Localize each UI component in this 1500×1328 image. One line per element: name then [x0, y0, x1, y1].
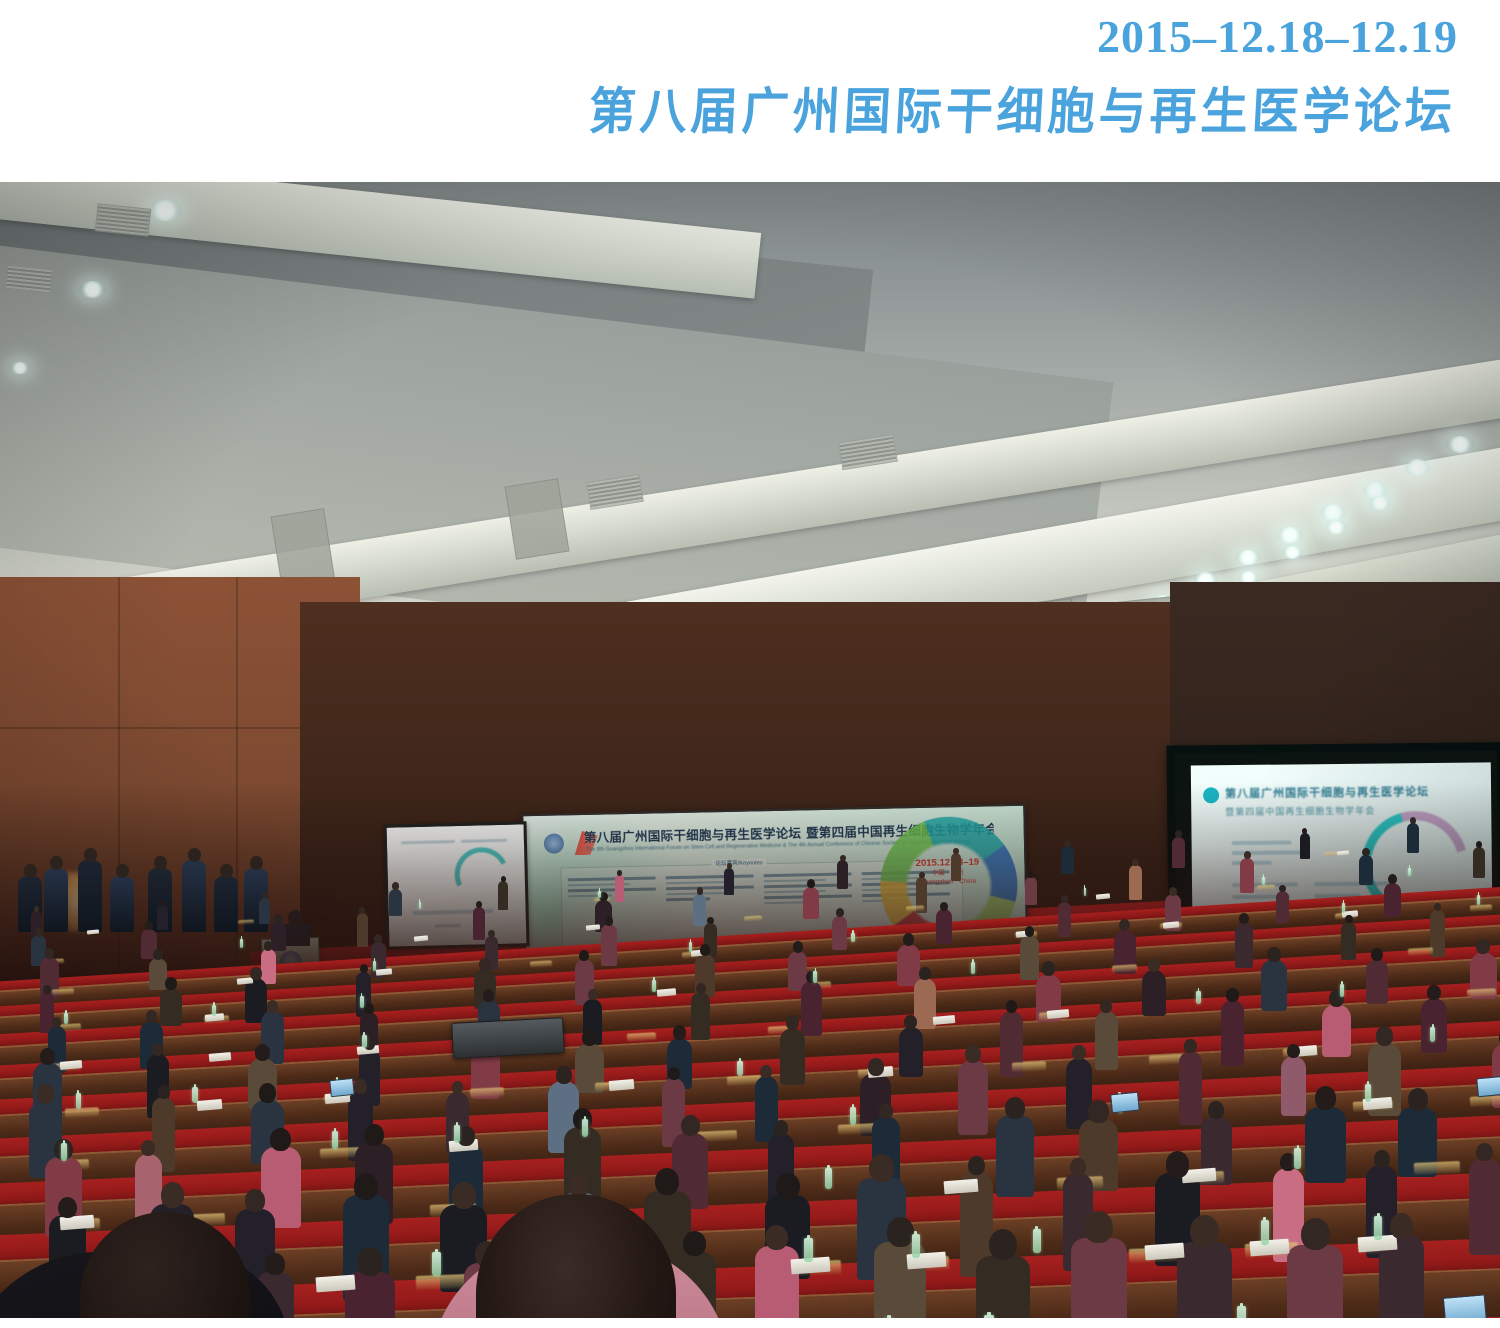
audience-member-head — [700, 944, 710, 956]
audience-member — [1025, 877, 1038, 905]
water-bottle — [212, 1005, 216, 1017]
audience-member — [1305, 1107, 1346, 1183]
audience-member-head — [579, 950, 589, 961]
desk-light-patch — [320, 1147, 360, 1159]
audience-member — [1384, 883, 1401, 917]
audience-member-head — [940, 902, 948, 911]
ceiling-downlight — [79, 281, 106, 298]
audience-member-head — [1287, 1044, 1300, 1059]
audience-member — [1071, 1238, 1127, 1318]
audience-member-head — [707, 917, 714, 925]
audience-member-head — [1064, 840, 1071, 848]
paper-handout — [86, 929, 98, 935]
audience-member-head — [655, 1168, 679, 1195]
water-bottle — [1294, 1148, 1301, 1169]
audience-member — [1359, 855, 1373, 884]
audience-member — [1061, 846, 1074, 874]
audience-member-head — [488, 930, 494, 937]
audience-member-head — [479, 958, 490, 971]
page-root: 2015–12.18–12.19 第八届广州国际干细胞与再生医学论坛 — [0, 0, 1500, 1328]
air-vent-icon — [95, 203, 152, 236]
audience-member-head — [903, 933, 915, 946]
audience-member-head — [1025, 926, 1035, 937]
desk-light-patch — [1012, 1061, 1046, 1072]
audience-member — [615, 875, 624, 902]
audience-member-head — [274, 914, 282, 923]
paper-handout — [1096, 894, 1110, 900]
water-bottle — [582, 1119, 588, 1137]
water-bottle — [1430, 1027, 1435, 1043]
audience-member-head — [476, 901, 482, 908]
water-bottle — [360, 996, 364, 1008]
audience-member — [1066, 1058, 1092, 1130]
water-bottle — [825, 1168, 832, 1189]
water-bottle — [373, 961, 376, 971]
water-bottle — [1033, 1229, 1041, 1253]
desk-light-patch — [1470, 904, 1492, 911]
water-bottle — [984, 1315, 993, 1318]
audience-member-head — [887, 1217, 914, 1247]
audience-member-head — [357, 1247, 383, 1276]
ceiling-downlight — [1235, 550, 1261, 566]
audience-member — [1020, 935, 1038, 980]
audience-member-head — [1302, 828, 1307, 834]
audience-member-head — [452, 1182, 476, 1209]
audience-member-head — [1088, 1100, 1108, 1123]
audience-member-head — [1006, 1000, 1018, 1013]
water-bottle — [76, 1093, 81, 1109]
audience-member-head — [774, 1120, 788, 1136]
audience-member-head — [1376, 1026, 1393, 1045]
audience-member — [601, 924, 618, 965]
audience-member — [259, 898, 270, 925]
ceiling-speaker — [505, 478, 570, 560]
desk-light-patch — [65, 1107, 99, 1118]
audience-member-head — [146, 1010, 158, 1023]
audience-member-head — [1362, 848, 1370, 856]
paper-handout — [944, 1178, 979, 1194]
page-header: 2015–12.18–12.19 第八届广州国际干细胞与再生医学论坛 — [0, 0, 1500, 182]
audience-member — [1142, 970, 1166, 1016]
water-bottle — [1374, 1216, 1382, 1240]
conference-hall-photo: 第八届广州国际干细胞与再生医学论坛 暨第四届中国再生细胞生物学年会 The 8t… — [0, 182, 1500, 1318]
audience-member-head — [868, 1058, 884, 1076]
audience-member — [1261, 959, 1286, 1011]
audience-member — [157, 905, 168, 930]
paper-handout — [414, 935, 428, 941]
water-bottle — [432, 1252, 440, 1276]
audience-member-head — [919, 872, 925, 878]
water-bottle — [240, 939, 243, 947]
audience-member-head — [35, 928, 43, 937]
water-bottle — [1084, 888, 1087, 896]
audience-member-head — [1374, 1150, 1390, 1168]
standing-attendee-head — [24, 864, 37, 878]
standing-attendee-head — [188, 848, 201, 862]
audience-member-head — [840, 855, 846, 861]
audience-member — [1177, 1242, 1232, 1318]
water-bottle — [61, 1143, 67, 1161]
audience-member-head — [683, 1231, 705, 1256]
header-title: 第八届广州国际干细胞与再生医学论坛 — [587, 70, 1458, 143]
audience-member-head — [245, 1189, 266, 1212]
audience-member-head — [1371, 948, 1383, 961]
standing-attendee — [44, 868, 68, 932]
audience-member-head — [727, 863, 732, 869]
water-bottle — [332, 1131, 338, 1149]
audience-member-head — [161, 1182, 184, 1208]
audience-member-head — [1244, 851, 1251, 859]
audience-member-head — [1028, 871, 1035, 878]
audience-member — [1240, 858, 1254, 893]
audience-member — [1473, 847, 1485, 878]
audience-member-head — [1279, 885, 1286, 893]
audience-member — [1129, 865, 1141, 900]
water-bottle — [64, 1013, 68, 1025]
desk-light-patch — [1414, 1161, 1460, 1175]
paper-handout — [1249, 1239, 1289, 1257]
audience-member-head — [58, 1197, 77, 1218]
water-bottle — [1340, 984, 1344, 997]
audience-member-head — [153, 949, 162, 959]
audience-member-head — [52, 1017, 61, 1028]
desk-light-patch — [743, 916, 762, 922]
audience-member-head — [1388, 874, 1397, 884]
header-date: 2015–12.18–12.19 — [1097, 10, 1458, 63]
audience-member-head — [1410, 817, 1416, 824]
audience-member-head — [605, 916, 614, 926]
audience-member-head — [1239, 913, 1249, 924]
audience-member-head — [989, 1229, 1017, 1260]
audience-member-head — [1390, 1213, 1413, 1239]
standing-attendee-head — [84, 848, 97, 862]
audience-member — [357, 913, 368, 948]
audience-member — [1421, 998, 1447, 1053]
audience-member — [951, 853, 961, 881]
photo-bottom-strip — [0, 1318, 1500, 1328]
audience-member-head — [360, 964, 368, 973]
audience-member-head — [582, 1029, 597, 1046]
audience-member-head — [359, 907, 365, 914]
audience-member-head — [1084, 1211, 1113, 1244]
audience-member — [1366, 959, 1388, 1004]
audience-member-head — [696, 983, 706, 994]
audience-member-head — [364, 1124, 383, 1146]
audience-member-head — [786, 1015, 799, 1030]
desk-light-patch — [470, 1087, 504, 1098]
audience-member — [958, 1060, 988, 1135]
audience-member — [801, 981, 822, 1036]
audience-member-head — [1476, 1143, 1493, 1162]
standing-attendee-head — [50, 856, 63, 870]
standing-attendee — [182, 860, 206, 932]
audience-member — [780, 1028, 805, 1086]
audio-mixer-console — [451, 1017, 565, 1059]
audience-member — [1341, 922, 1356, 960]
audience-member-head — [1226, 988, 1238, 1002]
water-bottle — [1237, 1306, 1246, 1318]
audience-member-head — [919, 967, 931, 980]
audience-member-head — [1208, 1101, 1224, 1119]
audience-member-head — [968, 1156, 985, 1175]
audience-member-head — [1315, 1086, 1336, 1110]
ceiling-downlight — [1282, 546, 1303, 559]
audience-member — [1095, 1011, 1118, 1070]
audience-member-head — [1345, 915, 1353, 924]
audience-member — [837, 860, 848, 889]
standing-attendee — [214, 876, 238, 932]
ceiling-downlight — [148, 200, 182, 221]
audience-member-head — [1184, 1039, 1196, 1052]
water-bottle — [1408, 868, 1411, 876]
audience-member — [897, 944, 920, 985]
audience-member — [1172, 837, 1185, 869]
audience-member — [1469, 1158, 1500, 1255]
audience-member-head — [152, 1043, 163, 1055]
audience-member-head — [364, 1003, 373, 1013]
water-bottle — [1196, 991, 1200, 1004]
audience-member-head — [1072, 1045, 1086, 1060]
audience-member-head — [265, 1253, 284, 1275]
standing-attendee-head — [154, 856, 167, 870]
water-bottle — [598, 891, 600, 898]
audience-member-head — [1175, 830, 1182, 838]
audience-member-head — [1301, 1218, 1330, 1250]
water-bottle — [689, 942, 692, 952]
audience-member — [755, 1246, 799, 1318]
water-bottle — [813, 971, 817, 983]
audience-member-head — [259, 1083, 276, 1103]
audience-member — [473, 907, 484, 940]
ceiling-downlight — [1320, 504, 1346, 520]
paper-handout — [196, 1099, 222, 1111]
audience-member-head — [760, 1065, 772, 1078]
audience-member-head — [43, 985, 51, 993]
ceiling-downlight — [1369, 496, 1391, 510]
water-bottle — [737, 1061, 742, 1077]
audience-member-head — [1132, 859, 1138, 866]
laptop — [329, 1078, 355, 1097]
water-bottle — [1342, 903, 1345, 913]
audience-member-head — [1148, 958, 1160, 972]
audience-member — [160, 988, 182, 1025]
audience-member-head — [40, 1048, 55, 1065]
audience-member-head — [1476, 939, 1490, 954]
audience-member-head — [262, 892, 268, 898]
water-bottle — [851, 933, 854, 943]
audience-member-head — [1070, 1158, 1086, 1176]
audience-member-head — [965, 1045, 981, 1063]
air-vent-icon — [5, 265, 53, 294]
standing-attendee — [78, 860, 102, 932]
standing-attendee — [110, 876, 134, 932]
audience-member — [261, 949, 277, 984]
audience-member-head — [165, 977, 177, 990]
audience-member-head — [836, 908, 844, 917]
audience-member-head — [250, 967, 261, 980]
audience-member-head — [681, 1115, 700, 1136]
paper-handout — [1337, 850, 1349, 856]
audience-member-head — [697, 887, 704, 895]
audience-member-head — [556, 1066, 572, 1084]
water-bottle — [1365, 1084, 1371, 1102]
audience-member-head — [668, 1067, 680, 1081]
water-bottle — [362, 1035, 366, 1048]
standing-attendee-head — [250, 856, 263, 870]
laptop — [1476, 1075, 1500, 1097]
standing-attendee-head — [116, 864, 129, 878]
audience-member-head — [673, 1025, 686, 1040]
audience-member — [899, 1027, 923, 1077]
audience-member-head — [1476, 841, 1482, 848]
audience-member-head — [255, 1044, 270, 1061]
audience-member — [1300, 833, 1310, 859]
audience-member-head — [1005, 1097, 1025, 1119]
audience-member-head — [158, 1085, 170, 1099]
audience-member-head — [354, 1173, 378, 1200]
water-bottle — [1477, 895, 1480, 905]
audience-member — [1322, 1004, 1351, 1057]
audience-member — [693, 894, 706, 926]
audience-member-head — [776, 1173, 800, 1200]
audience-member — [936, 909, 951, 943]
audience-member-head — [1190, 1215, 1219, 1247]
audience-member-head — [374, 934, 382, 943]
audience-member — [1235, 923, 1254, 968]
audience-member — [1221, 1000, 1245, 1066]
audience-member-head — [953, 848, 958, 854]
paper-handout — [608, 1079, 634, 1091]
audience-member-head — [1042, 961, 1055, 976]
audience-member-head — [37, 1084, 54, 1103]
audience-member-head — [1408, 1088, 1428, 1111]
audience-member-head — [1169, 887, 1177, 896]
desk-light-patch — [530, 960, 552, 967]
audience-member-head — [1267, 947, 1280, 962]
audience-member-head — [1427, 985, 1440, 1000]
audience-member — [996, 1115, 1034, 1197]
audience-member — [271, 921, 286, 951]
laptop — [1443, 1294, 1488, 1318]
water-bottle — [804, 1238, 812, 1262]
audience-member — [724, 868, 734, 895]
water-bottle — [419, 902, 421, 909]
audience-member-head — [869, 1154, 894, 1182]
audience-member — [976, 1256, 1030, 1318]
audience-member — [1407, 823, 1419, 854]
audience-member — [389, 889, 403, 916]
ceiling-downlight — [1404, 459, 1431, 476]
audience-member — [1179, 1051, 1202, 1125]
water-bottle — [850, 1107, 856, 1125]
audience-area — [0, 782, 1500, 1318]
water-bottle — [652, 980, 656, 992]
desk-light-patch — [1112, 964, 1138, 972]
audience-member-head — [501, 876, 506, 882]
audience-member-head — [879, 1103, 893, 1119]
audience-member — [1276, 891, 1289, 923]
audience-member-head — [765, 1225, 788, 1251]
audience-member — [1287, 1245, 1343, 1318]
audience-member-head — [141, 1140, 155, 1156]
desk-light-patch — [1256, 884, 1275, 890]
audience-member-head — [1166, 1151, 1190, 1178]
audience-member-head — [793, 941, 803, 952]
standing-attendee-head — [220, 864, 233, 878]
audience-member-head — [1061, 895, 1068, 903]
water-bottle — [1262, 877, 1265, 885]
water-bottle — [192, 1087, 197, 1103]
audience-member — [691, 992, 710, 1039]
audience-member-head — [617, 870, 622, 876]
audience-member — [1058, 902, 1071, 937]
audience-member-head — [354, 1079, 367, 1094]
audience-member — [832, 916, 847, 950]
audience-member-head — [270, 1128, 291, 1151]
ceiling-downlight — [1446, 436, 1473, 453]
water-bottle — [912, 1234, 920, 1258]
audience-member-head — [588, 989, 598, 1000]
audience-member — [498, 881, 508, 910]
laptop — [1110, 1092, 1140, 1114]
audience-member-head — [264, 941, 272, 950]
audience-member — [803, 887, 819, 919]
audience-member — [1281, 1056, 1306, 1116]
water-bottle — [1261, 1220, 1269, 1244]
water-bottle — [454, 1125, 460, 1143]
water-bottle — [971, 962, 975, 974]
audience-member-head — [904, 1015, 917, 1029]
